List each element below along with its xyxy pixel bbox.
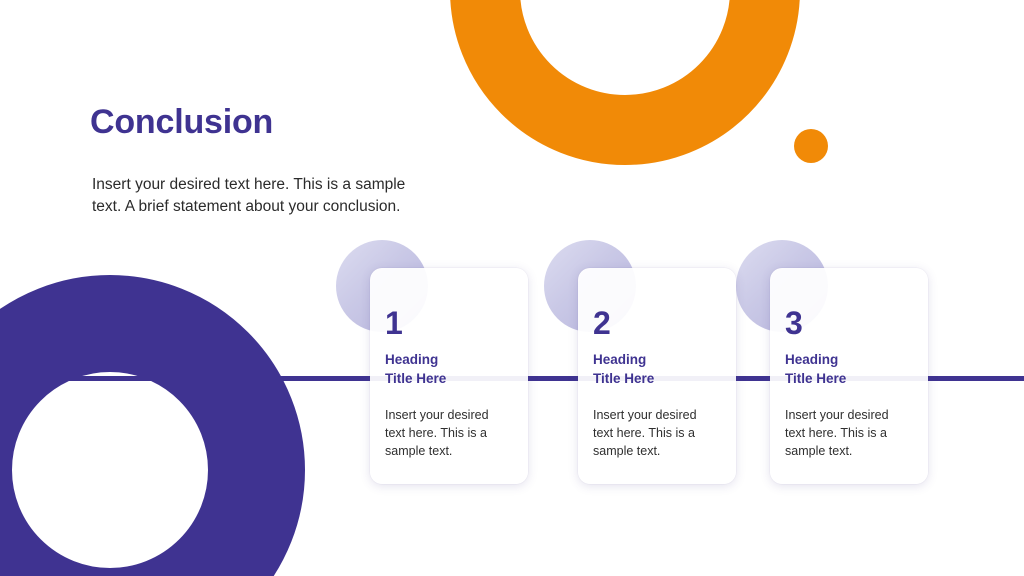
card-heading: Heading Title Here	[385, 350, 512, 388]
card-number: 3	[785, 306, 912, 340]
card-heading: Heading Title Here	[785, 350, 912, 388]
card-panel[interactable]: 1 Heading Title Here Insert your desired…	[370, 268, 528, 484]
slide-canvas: Conclusion Insert your desired text here…	[0, 0, 1024, 576]
card-panel[interactable]: 2 Heading Title Here Insert your desired…	[578, 268, 736, 484]
card-panel[interactable]: 3 Heading Title Here Insert your desired…	[770, 268, 928, 484]
intro-paragraph: Insert your desired text here. This is a…	[92, 174, 422, 218]
card-body-text: Insert your desired text here. This is a…	[385, 406, 512, 460]
card-body-text: Insert your desired text here. This is a…	[593, 406, 720, 460]
card-item-1[interactable]: 1 Heading Title Here Insert your desired…	[330, 240, 530, 490]
card-item-3[interactable]: 3 Heading Title Here Insert your desired…	[730, 240, 930, 490]
page-title: Conclusion	[90, 103, 273, 142]
card-number: 1	[385, 306, 512, 340]
card-number: 2	[593, 306, 720, 340]
card-body-text: Insert your desired text here. This is a…	[785, 406, 912, 460]
card-item-2[interactable]: 2 Heading Title Here Insert your desired…	[538, 240, 738, 490]
card-list: 1 Heading Title Here Insert your desired…	[0, 0, 1024, 576]
card-heading: Heading Title Here	[593, 350, 720, 388]
